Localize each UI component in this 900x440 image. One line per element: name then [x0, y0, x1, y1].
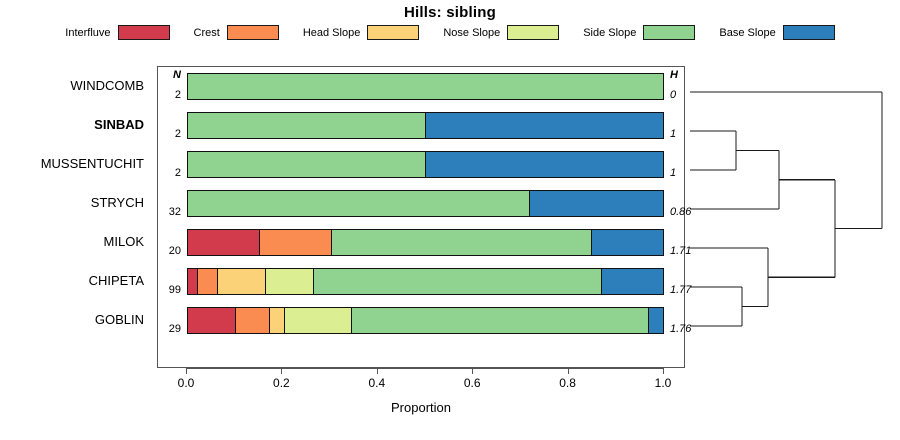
bar-segment-head-slope[interactable]	[218, 269, 266, 294]
category-label: GOBLIN	[0, 312, 144, 327]
bar-segment-base-slope[interactable]	[602, 269, 663, 294]
bar-segment-crest[interactable]	[198, 269, 218, 294]
bar-segment-side-slope[interactable]	[188, 152, 426, 177]
x-axis-tick	[281, 368, 282, 374]
bar-segment-interfluve[interactable]	[188, 230, 260, 255]
bar-segment-interfluve[interactable]	[188, 308, 236, 333]
bar-segment-base-slope[interactable]	[426, 152, 663, 177]
bar-segment-base-slope[interactable]	[649, 308, 663, 333]
legend-color-swatch	[118, 25, 170, 40]
stacked-bar[interactable]	[187, 151, 664, 178]
dendrogram-svg	[690, 66, 895, 368]
bar-segment-side-slope[interactable]	[332, 230, 593, 255]
bar-row: 21	[158, 106, 684, 145]
stacked-bar[interactable]	[187, 73, 664, 100]
legend-item-label: Interfluve	[65, 27, 110, 39]
bar-segment-nose-slope[interactable]	[266, 269, 314, 294]
bar-segment-side-slope[interactable]	[188, 191, 530, 216]
stacked-bar[interactable]	[187, 112, 664, 139]
n-value: 99	[141, 284, 181, 296]
x-axis-tick-label: 0.6	[464, 376, 481, 390]
legend-color-swatch	[783, 25, 835, 40]
category-label: MUSSENTUCHIT	[0, 156, 144, 171]
x-axis-tick	[568, 368, 569, 374]
stacked-bar[interactable]	[187, 268, 664, 295]
bar-segment-crest[interactable]	[236, 308, 270, 333]
x-axis-tick-label: 1.0	[655, 376, 672, 390]
bar-segment-side-slope[interactable]	[188, 113, 426, 138]
x-axis-tick-label: 0.2	[273, 376, 290, 390]
x-axis-tick-label: 0.0	[178, 376, 195, 390]
n-value: 20	[141, 245, 181, 257]
legend: InterfluveCrestHead SlopeNose SlopeSide …	[0, 25, 900, 40]
bar-row: 991.77	[158, 262, 684, 301]
stacked-bar[interactable]	[187, 307, 664, 334]
legend-item: Base Slope	[719, 25, 834, 40]
legend-color-swatch	[507, 25, 559, 40]
bar-row: 21	[158, 145, 684, 184]
bar-row: 291.76	[158, 301, 684, 340]
dendrogram	[690, 66, 895, 368]
bar-segment-base-slope[interactable]	[592, 230, 663, 255]
n-value: 32	[141, 206, 181, 218]
legend-color-swatch	[227, 25, 279, 40]
category-label: SINBAD	[0, 117, 144, 132]
legend-item-label: Base Slope	[719, 27, 775, 39]
category-label: CHIPETA	[0, 273, 144, 288]
chart-root: Hills: sibling InterfluveCrestHead Slope…	[0, 0, 900, 440]
category-label: STRYCH	[0, 195, 144, 210]
stacked-bar-plot-panel: NH202121320.86201.71991.77291.76	[157, 66, 685, 368]
x-axis-tick-label: 0.4	[368, 376, 385, 390]
legend-item: Head Slope	[303, 25, 420, 40]
category-label: WINDCOMB	[0, 78, 144, 93]
chart-title: Hills: sibling	[0, 4, 900, 21]
bar-segment-side-slope[interactable]	[352, 308, 649, 333]
legend-item: Interfluve	[65, 25, 169, 40]
x-axis-tick	[472, 368, 473, 374]
n-value: 2	[141, 128, 181, 140]
bar-segment-interfluve[interactable]	[188, 269, 198, 294]
n-value: 29	[141, 323, 181, 335]
x-axis-title: Proportion	[157, 400, 685, 415]
category-label-column: WINDCOMBSINBADMUSSENTUCHITSTRYCHMILOKCHI…	[0, 66, 152, 368]
legend-item: Nose Slope	[443, 25, 559, 40]
x-axis-line	[186, 368, 663, 369]
bar-segment-head-slope[interactable]	[270, 308, 285, 333]
bar-row: 320.86	[158, 184, 684, 223]
legend-color-swatch	[367, 25, 419, 40]
bar-row: 20	[158, 67, 684, 106]
category-label: MILOK	[0, 234, 144, 249]
legend-item-label: Side Slope	[583, 27, 636, 39]
bar-row: 201.71	[158, 223, 684, 262]
x-axis: 0.00.20.40.60.81.0	[157, 368, 685, 398]
bar-segment-nose-slope[interactable]	[285, 308, 352, 333]
legend-item-label: Crest	[194, 27, 220, 39]
bar-segment-crest[interactable]	[260, 230, 332, 255]
legend-item: Side Slope	[583, 25, 695, 40]
n-value: 2	[141, 167, 181, 179]
bar-segment-side-slope[interactable]	[314, 269, 602, 294]
stacked-bar[interactable]	[187, 190, 664, 217]
x-axis-tick	[377, 368, 378, 374]
x-axis-tick	[186, 368, 187, 374]
x-axis-tick-label: 0.8	[559, 376, 576, 390]
bar-segment-base-slope[interactable]	[426, 113, 663, 138]
legend-color-swatch	[643, 25, 695, 40]
stacked-bar[interactable]	[187, 229, 664, 256]
legend-item-label: Nose Slope	[443, 27, 500, 39]
legend-item-label: Head Slope	[303, 27, 361, 39]
x-axis-tick	[663, 368, 664, 374]
bar-segment-side-slope[interactable]	[188, 74, 663, 99]
bar-segment-base-slope[interactable]	[530, 191, 663, 216]
n-value: 2	[141, 89, 181, 101]
legend-item: Crest	[194, 25, 279, 40]
